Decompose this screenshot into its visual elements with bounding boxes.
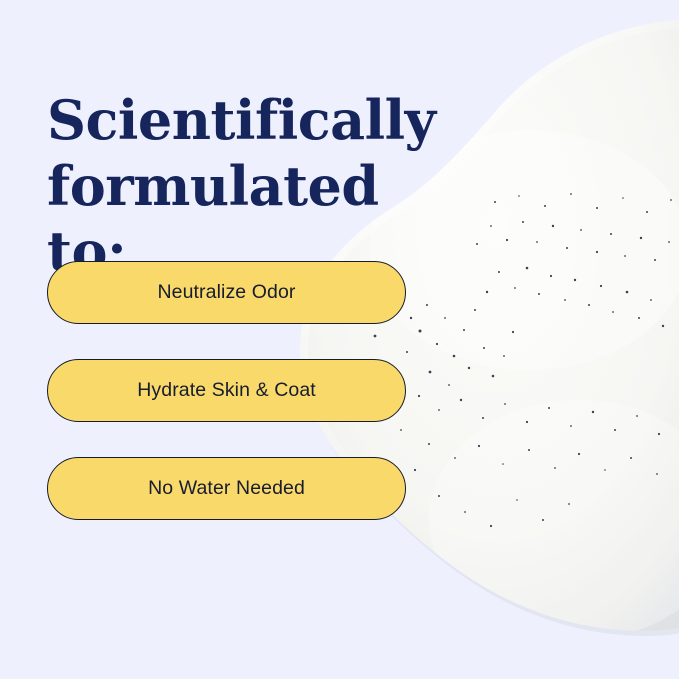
product-benefits-poster: Scientifically formulated to: Neutralize… xyxy=(0,0,679,679)
benefit-pill-hydrate-skin-and-coat[interactable]: Hydrate Skin & Coat xyxy=(47,359,406,422)
benefit-pill-label: No Water Needed xyxy=(148,477,305,500)
benefit-pill-no-water-needed[interactable]: No Water Needed xyxy=(47,457,406,520)
benefit-pill-neutralize-odor[interactable]: Neutralize Odor xyxy=(47,261,406,324)
page-title: Scientifically formulated to: xyxy=(47,88,467,284)
benefit-pill-label: Hydrate Skin & Coat xyxy=(137,379,316,402)
benefit-list: Neutralize Odor Hydrate Skin & Coat No W… xyxy=(47,261,406,520)
benefit-pill-label: Neutralize Odor xyxy=(157,281,295,304)
